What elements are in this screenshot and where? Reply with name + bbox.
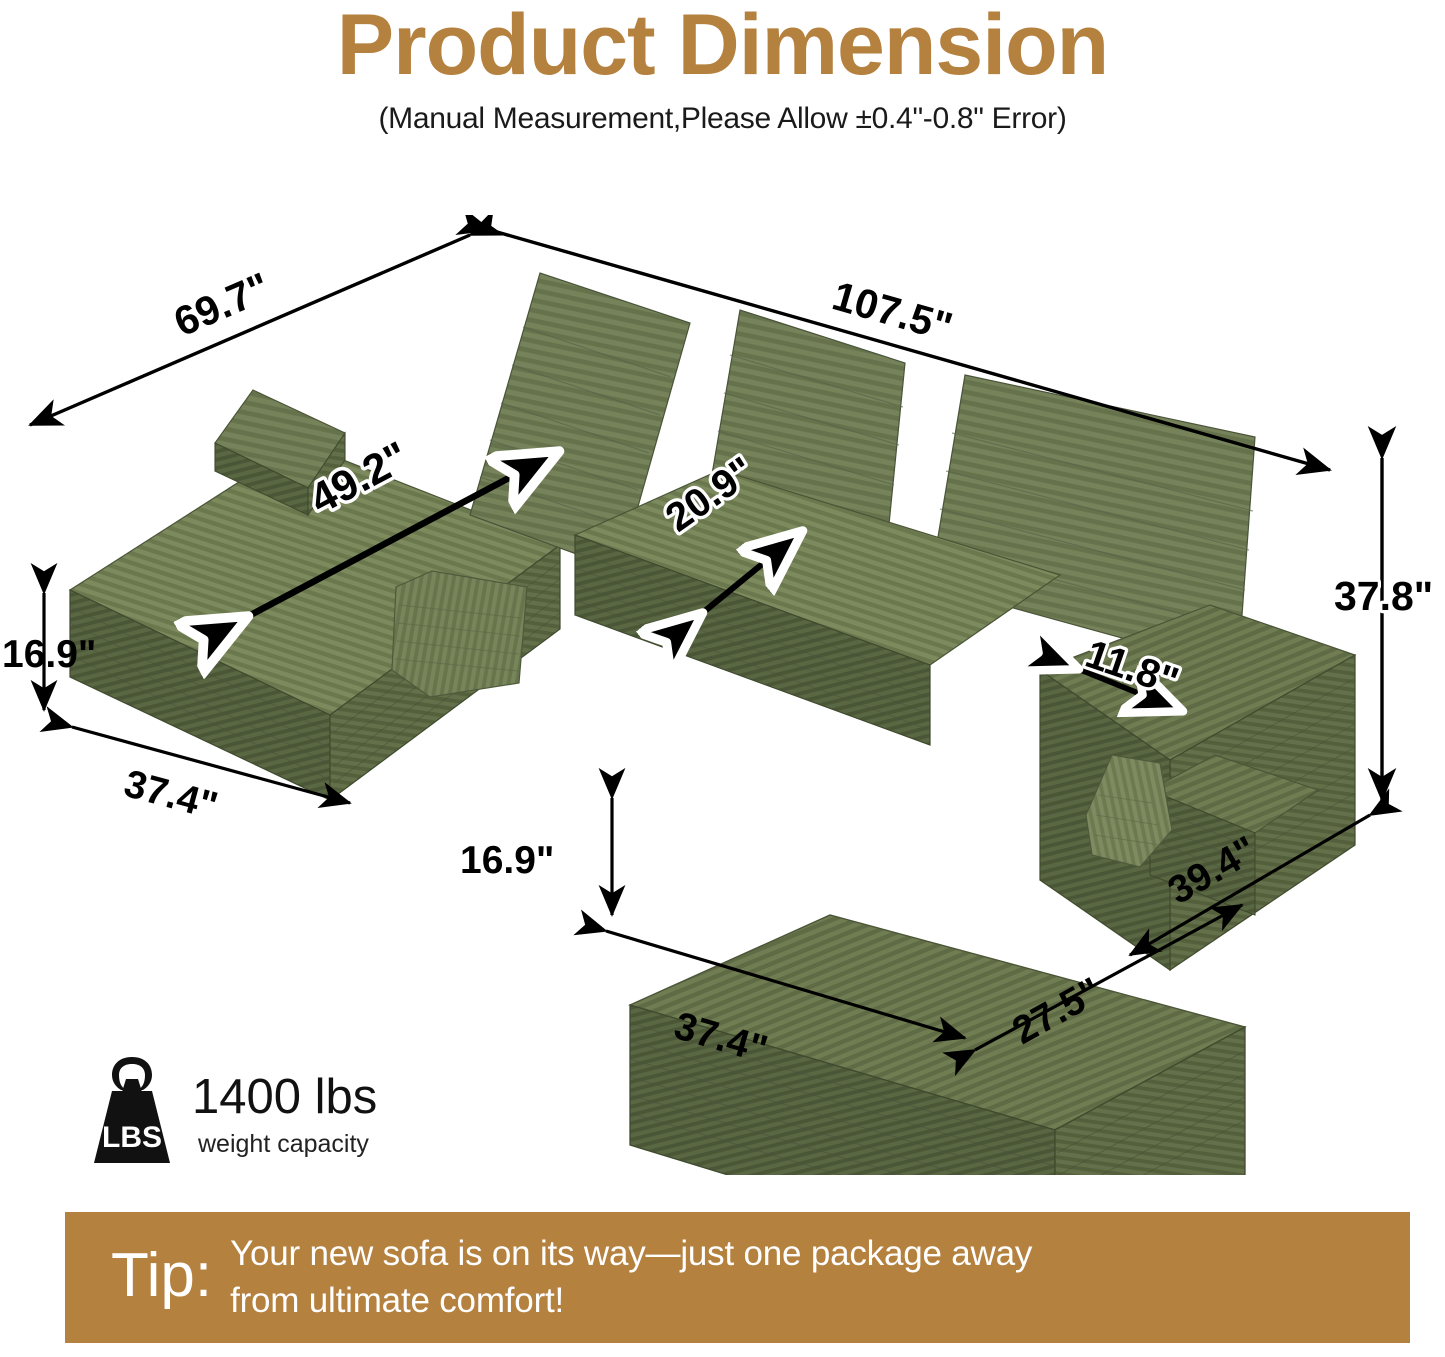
weight-capacity-caption: weight capacity xyxy=(192,1122,377,1159)
weight-icon: LBS xyxy=(86,1055,178,1173)
dim-label-69-7: 69.7" xyxy=(167,263,276,345)
dim-ottoman-height: 16.9" xyxy=(460,798,612,915)
throw-pillow-left xyxy=(392,571,527,697)
dim-label-37-4-chaise: 37.4" xyxy=(120,762,222,828)
weight-capacity-block: LBS 1400 lbs weight capacity xyxy=(86,1055,377,1173)
page-title: Product Dimension xyxy=(0,0,1445,88)
dim-label-37-8: 37.8" xyxy=(1334,573,1433,619)
product-dimension-infographic: Product Dimension (Manual Measurement,Pl… xyxy=(0,0,1445,1357)
sofa-dimension-illustration: 69.7" 107.5" 49.2" 20.9" 16.9" 37.4" xyxy=(0,215,1445,1175)
tip-message-line-2: from ultimate comfort! xyxy=(230,1278,1032,1324)
measurement-disclaimer: (Manual Measurement,Please Allow ±0.4"-0… xyxy=(0,88,1445,136)
dim-label-16-9-ottoman: 16.9" xyxy=(460,839,554,882)
tip-message-line-1: Your new sofa is on its way—just one pac… xyxy=(230,1231,1032,1277)
dim-label-107-5: 107.5" xyxy=(828,272,958,350)
weight-icon-label: LBS xyxy=(102,1121,162,1154)
tip-banner: Tip: Your new sofa is on its way—just on… xyxy=(65,1212,1410,1343)
weight-capacity-value: 1400 lbs xyxy=(192,1073,377,1122)
tip-message: Your new sofa is on its way—just one pac… xyxy=(230,1231,1032,1323)
tip-label: Tip: xyxy=(65,1245,230,1307)
header: Product Dimension (Manual Measurement,Pl… xyxy=(0,0,1445,136)
dim-label-16-9-left: 16.9" xyxy=(2,633,96,676)
